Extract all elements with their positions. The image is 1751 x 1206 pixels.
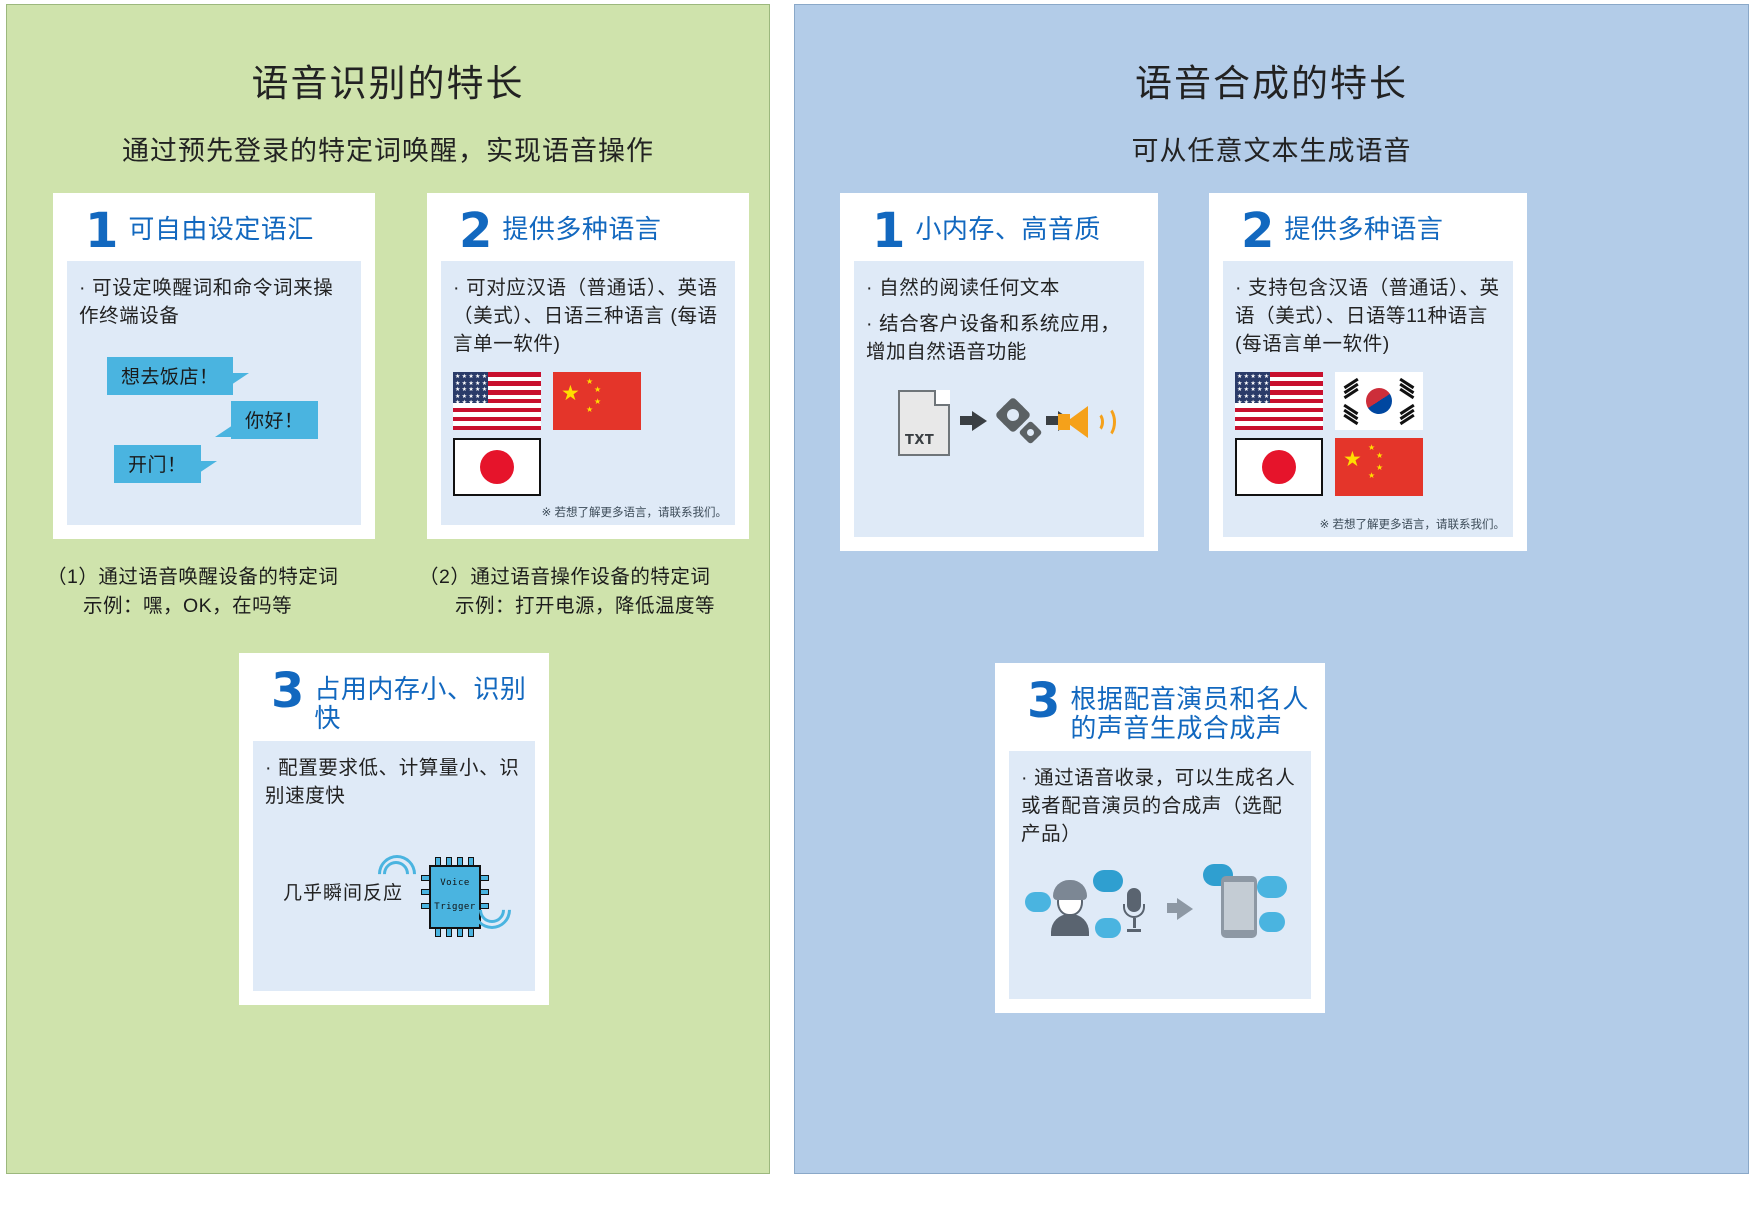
microphone-icon [1125,888,1143,932]
card-body: · 可对应汉语（普通话）、英语（美式）、日语三种语言 (每语言单一软件) ★★★… [441,261,735,525]
card-header: 2 提供多种语言 [441,205,735,261]
right-panel-subtitle: 可从任意文本生成语音 [795,107,1748,168]
left-panel-title: 语音识别的特长 [7,5,769,107]
left-panel-subtitle: 通过预先登录的特定词唤醒，实现语音操作 [7,107,769,168]
card-number: 3 [271,669,304,713]
flag-row: ★ ★ ★ ★ ★ [1235,438,1501,496]
person-avatar-icon [1049,880,1093,936]
card-title: 小内存、高音质 [915,209,1101,244]
flag-group: ★★★★★★★★★★★★★★★★★★★★★★★★★★★★ ★ ★ ★ ★ ★ [453,372,723,504]
card-number: 3 [1027,679,1060,723]
tts-flow-illustration: TXT [866,384,1132,480]
card-synthesis-3: 3 根据配音演员和名人的声音生成合成声 · 通过语音收录，可以生成名人或者配音演… [995,663,1325,1013]
chat-bubble-bottom [1095,918,1121,938]
speech-bubble-1: 想去饭店！ [107,357,233,395]
card-recognition-1: 1 可自由设定语汇 · 可设定唤醒词和命令词来操作终端设备 想去饭店！ 你好！ … [53,193,375,539]
voice-recording-illustration [1021,862,1299,974]
flag-row: ★★★★★★★★★★★★★★★★★★★★★★★★★★★★ [1235,372,1501,430]
smartphone-icon [1221,876,1257,938]
jp-flag-icon [1235,438,1323,496]
document-label: TXT [905,433,934,448]
card-header: 3 占用内存小、识别快 [253,665,535,741]
card-number: 2 [459,209,492,253]
speech-bubble-2: 你好！ [231,401,318,439]
us-flag-icon: ★★★★★★★★★★★★★★★★★★★★★★★★★★★★ [453,372,541,430]
arrow-1-icon [972,411,987,431]
slide-root: 语音识别的特长 通过预先登录的特定词唤醒，实现语音操作 1 可自由设定语汇 · … [0,0,1751,1206]
card-footnote: ※ 若想了解更多语言，请联系我们。 [1320,516,1505,532]
chat-bubble-top [1093,870,1123,892]
us-flag-icon: ★★★★★★★★★★★★★★★★★★★★★★★★★★★★ [1235,372,1323,430]
speech-bubble-illustration: 想去饭店！ 你好！ 开门！ [79,353,349,493]
caption-line-1: 通过语音唤醒设备的特定词 [98,566,338,588]
card-number: 1 [872,209,905,253]
document-fold [934,390,950,406]
kr-flag-icon [1335,372,1423,430]
caption-2: （2）通过语音操作设备的特定词 示例：打开电源，降低温度等 [419,563,779,622]
card-footnote: ※ 若想了解更多语言，请联系我们。 [542,504,727,520]
card-bullet-1: · 自然的阅读任何文本 [866,275,1132,303]
caption-1: （1）通过语音唤醒设备的特定词 示例：嘿，OK，在吗等 [47,563,407,622]
cn-flag-icon: ★ ★ ★ ★ ★ [1335,438,1423,496]
card-header: 1 可自由设定语汇 [67,205,361,261]
signal-wave-right-icon [461,885,505,941]
document-icon: TXT [898,390,950,456]
arrow-1-stem [960,416,972,425]
jp-flag-icon [453,438,541,496]
flow-arrow-icon [1177,898,1193,920]
card-header: 3 根据配音演员和名人的声音生成合成声 [1009,675,1311,751]
card-body: · 支持包含汉语（普通话）、英语（美式）、日语等11种语言(每语言单一软件) ★… [1223,261,1513,537]
right-panel: 语音合成的特长 可从任意文本生成语音 1 小内存、高音质 · 自然的阅读任何文本… [794,4,1749,1174]
card-body: · 配置要求低、计算量小、识别速度快 几乎瞬间反应 [253,741,535,991]
flag-group: ★★★★★★★★★★★★★★★★★★★★★★★★★★★★ [1235,372,1501,504]
card-body: · 自然的阅读任何文本 · 结合客户设备和系统应用，增加自然语音功能 TXT [854,261,1144,537]
card-bullet: · 通过语音收录，可以生成名人或者配音演员的合成声（选配产品） [1021,765,1299,848]
card-title: 可自由设定语汇 [128,209,314,244]
card-recognition-2: 2 提供多种语言 · 可对应汉语（普通话）、英语（美式）、日语三种语言 (每语言… [427,193,749,539]
card-bullet: · 支持包含汉语（普通话）、英语（美式）、日语等11种语言(每语言单一软件) [1235,275,1501,358]
chat-bubble-left [1025,892,1051,912]
card-header: 2 提供多种语言 [1223,205,1513,261]
card-bullet: · 可对应汉语（普通话）、英语（美式）、日语三种语言 (每语言单一软件) [453,275,723,358]
flag-row: ★★★★★★★★★★★★★★★★★★★★★★★★★★★★ ★ ★ ★ ★ ★ [453,372,723,430]
card-bullet: · 配置要求低、计算量小、识别速度快 [265,755,523,810]
caption-line-2: 示例：嘿，OK，在吗等 [47,592,407,621]
chip-illustration: 几乎瞬间反应 [265,819,523,981]
card-body: · 可设定唤醒词和命令词来操作终端设备 想去饭店！ 你好！ 开门！ [67,261,361,525]
caption-line-1: 通过语音操作设备的特定词 [470,566,710,588]
left-panel: 语音识别的特长 通过预先登录的特定词唤醒，实现语音操作 1 可自由设定语汇 · … [6,4,770,1174]
card-title: 占用内存小、识别快 [314,669,535,733]
card-title: 根据配音演员和名人的声音生成合成声 [1070,679,1311,743]
cn-flag-icon: ★ ★ ★ ★ ★ [553,372,641,430]
card-recognition-3: 3 占用内存小、识别快 · 配置要求低、计算量小、识别速度快 几乎瞬间反应 [239,653,549,1005]
card-number: 1 [85,209,118,253]
card-synthesis-2: 2 提供多种语言 · 支持包含汉语（普通话）、英语（美式）、日语等11种语言(每… [1209,193,1527,551]
speech-bubble-3: 开门！ [114,445,201,483]
card-title: 提供多种语言 [1284,209,1443,244]
card-bullet: · 可设定唤醒词和命令词来操作终端设备 [79,275,349,330]
phone-bubble-right [1257,876,1287,898]
arrow-2-stem [1046,416,1058,425]
card-synthesis-1: 1 小内存、高音质 · 自然的阅读任何文本 · 结合客户设备和系统应用，增加自然… [840,193,1158,551]
card-bullet-2: · 结合客户设备和系统应用，增加自然语音功能 [866,311,1132,366]
card-body: · 通过语音收录，可以生成名人或者配音演员的合成声（选配产品） [1009,751,1311,999]
card-header: 1 小内存、高音质 [854,205,1144,261]
card-number: 2 [1241,209,1274,253]
card-title: 提供多种语言 [502,209,661,244]
caption-marker: （1） [47,566,98,588]
right-panel-title: 语音合成的特长 [795,5,1748,107]
phone-bubble-bottom [1259,912,1285,932]
caption-line-2: 示例：打开电源，降低温度等 [419,592,779,621]
caption-marker: （2） [419,566,470,588]
flag-row [453,438,723,496]
